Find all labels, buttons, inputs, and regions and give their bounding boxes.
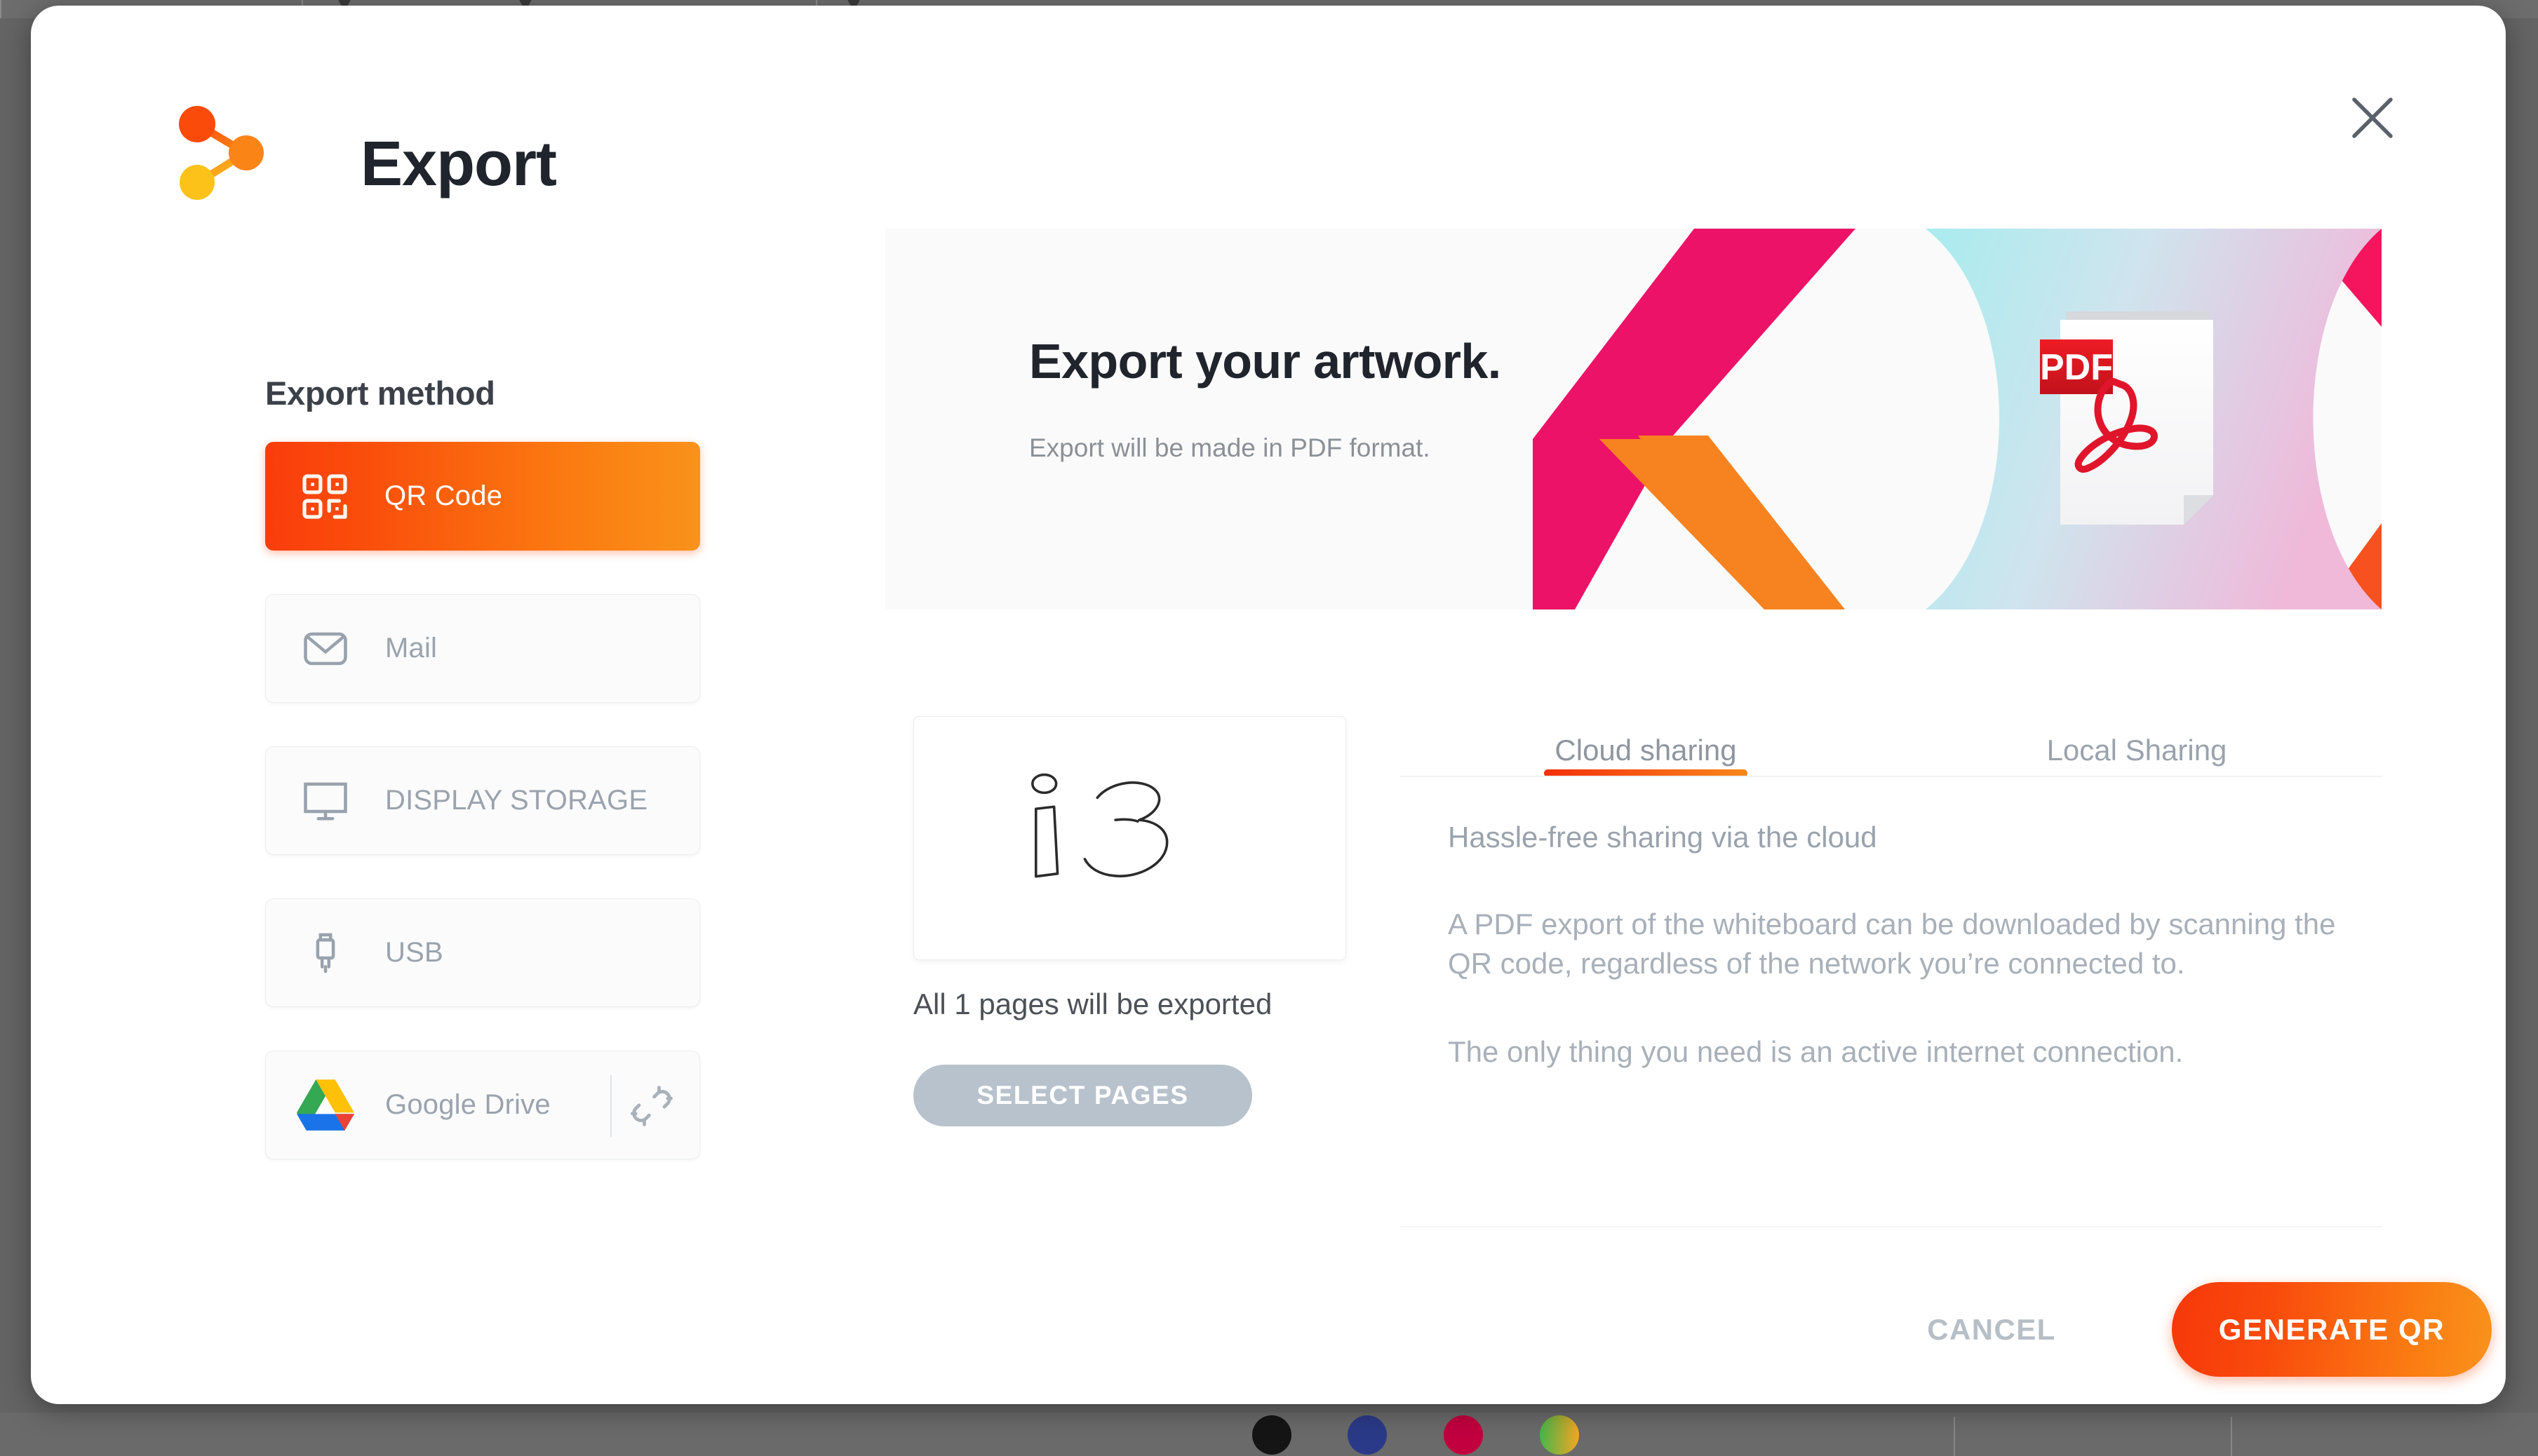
toolbar-divider bbox=[1954, 1417, 1955, 1456]
toolbar-divider bbox=[0, 0, 1, 18]
background-tool-dot-black bbox=[1252, 1415, 1291, 1455]
usb-plug-icon bbox=[266, 928, 385, 978]
export-dialog: Export Export method bbox=[31, 6, 2506, 1404]
banner-subtitle: Export will be made in PDF format. bbox=[1029, 432, 1520, 465]
share-nodes-icon bbox=[175, 104, 267, 202]
monitor-icon bbox=[266, 776, 385, 826]
method-item-label: Google Drive bbox=[385, 1089, 551, 1121]
page-title: Export bbox=[361, 128, 556, 201]
cancel-button[interactable]: CANCEL bbox=[1911, 1302, 2072, 1358]
method-item-google-drive[interactable]: Google Drive bbox=[265, 1051, 700, 1159]
background-bottom-toolbar bbox=[0, 1413, 2538, 1456]
unlink-icon[interactable] bbox=[626, 1081, 677, 1131]
close-button[interactable] bbox=[2339, 84, 2406, 151]
pages-info: All 1 pages will be exported bbox=[913, 987, 1272, 1021]
banner-artwork: PDF bbox=[1533, 229, 2382, 609]
method-item-display-storage[interactable]: DISPLAY STORAGE bbox=[265, 746, 700, 855]
toolbar-divider bbox=[2231, 1417, 2232, 1456]
method-item-label: Mail bbox=[385, 633, 437, 664]
sharing-description: Hassle-free sharing via the cloud A PDF … bbox=[1448, 821, 2353, 1072]
divider bbox=[1400, 776, 2382, 777]
method-item-usb[interactable]: USB bbox=[265, 898, 700, 1007]
export-method-section: Export method QR Code bbox=[265, 374, 700, 1203]
close-icon bbox=[2344, 90, 2401, 146]
tab-cloud-sharing[interactable]: Cloud sharing bbox=[1400, 707, 1891, 777]
background-tool-dot-red bbox=[1444, 1415, 1483, 1455]
sharing-desc-body: A PDF export of the whiteboard can be do… bbox=[1448, 905, 2353, 983]
sharing-panel: Cloud sharing Local Sharing bbox=[1400, 707, 2382, 777]
banner-text: Export your artwork. Export will be made… bbox=[1029, 334, 1520, 465]
method-item-qr-code[interactable]: QR Code bbox=[265, 442, 700, 551]
background-tool-dot-multicolor bbox=[1540, 1415, 1579, 1455]
divider bbox=[1400, 1226, 2382, 1227]
svg-text:PDF: PDF bbox=[2040, 347, 2113, 388]
qr-code-icon bbox=[265, 471, 384, 523]
thumbnail-sketch-i3 bbox=[914, 717, 1345, 959]
background-tool-dot-blue bbox=[1348, 1415, 1387, 1455]
generate-qr-button[interactable]: GENERATE QR bbox=[2172, 1282, 2492, 1377]
sharing-desc-note: The only thing you need is an active int… bbox=[1448, 1032, 2353, 1072]
method-item-label: USB bbox=[385, 937, 443, 969]
method-item-mail[interactable]: Mail bbox=[265, 594, 700, 703]
banner-headline: Export your artwork. bbox=[1029, 334, 1520, 389]
dialog-header: Export bbox=[31, 6, 2506, 216]
sharing-tabs: Cloud sharing Local Sharing bbox=[1400, 707, 2382, 777]
tab-local-sharing[interactable]: Local Sharing bbox=[1891, 707, 2382, 777]
google-drive-icon bbox=[266, 1079, 385, 1132]
select-pages-button[interactable]: SELECT PAGES bbox=[913, 1065, 1252, 1126]
method-item-label: DISPLAY STORAGE bbox=[385, 785, 647, 816]
tab-label: Local Sharing bbox=[2047, 734, 2227, 777]
sharing-desc-title: Hassle-free sharing via the cloud bbox=[1448, 821, 2353, 854]
promo-banner: Export your artwork. Export will be made… bbox=[885, 229, 2382, 609]
export-method-label: Export method bbox=[265, 374, 700, 412]
page-thumbnail[interactable] bbox=[913, 716, 1346, 960]
divider bbox=[610, 1075, 612, 1137]
method-item-label: QR Code bbox=[384, 480, 502, 512]
envelope-icon bbox=[266, 623, 385, 674]
